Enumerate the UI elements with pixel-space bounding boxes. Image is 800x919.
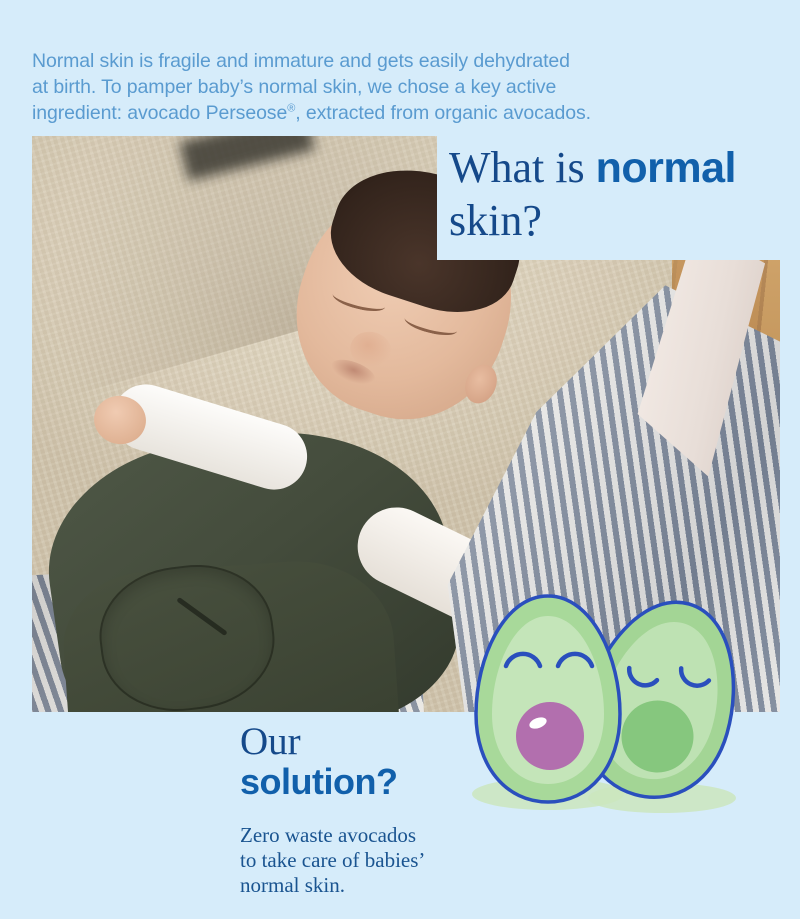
solution-heading-our: Our: [240, 722, 500, 762]
section-solution: Our solution? Zero waste avocados to tak…: [240, 722, 500, 919]
heading-line-2: skin?: [449, 199, 800, 252]
section-heading-normal-skin: What is normal skin?: [437, 136, 800, 260]
solution-body-text: Zero waste avocados to take care of babi…: [240, 823, 500, 898]
heading-line-1: What is normal: [449, 146, 800, 199]
heading-what-is: What is: [449, 143, 596, 192]
avocado-left-pit: [516, 702, 584, 770]
intro-text-part-2: , extracted from organic avocados.: [295, 102, 591, 124]
solution-heading-solution: solution?: [240, 762, 500, 802]
heading-normal: normal: [596, 144, 736, 192]
heading-skin: skin?: [449, 196, 542, 245]
avocado-illustration: [470, 586, 740, 826]
intro-paragraph: Normal skin is fragile and immature and …: [32, 48, 722, 126]
avocado-svg: [470, 586, 740, 826]
